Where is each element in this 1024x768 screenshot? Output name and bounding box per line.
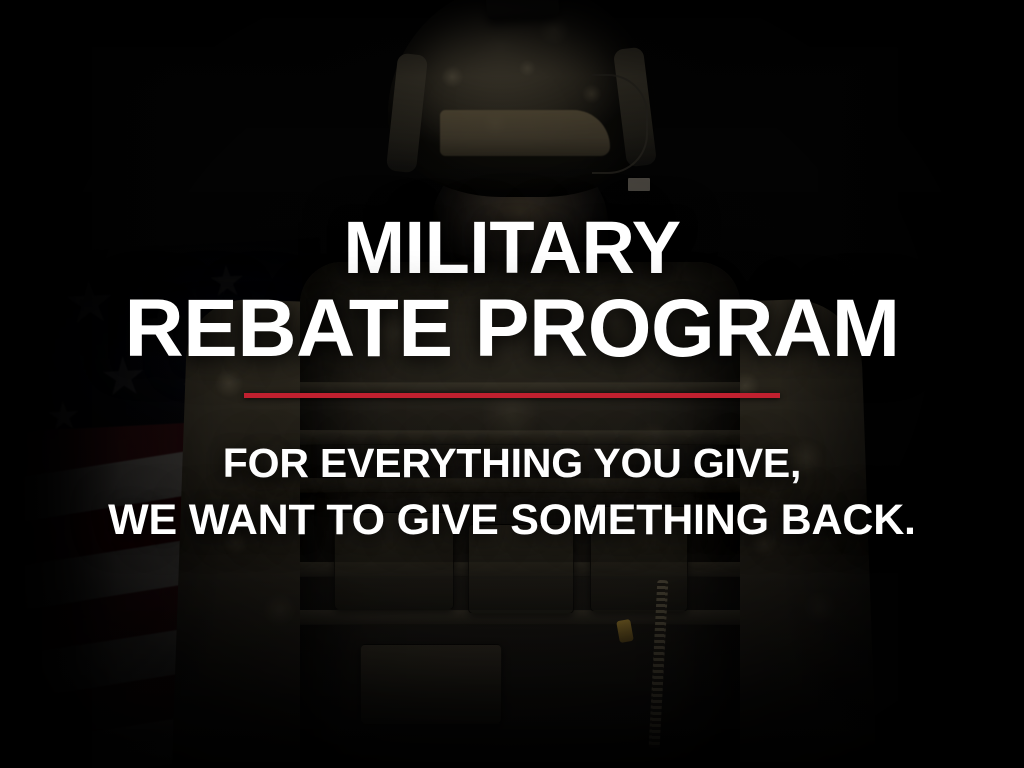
headline-line-2: REBATE PROGRAM [124,289,899,369]
military-rebate-program-banner: MILITARY REBATE PROGRAM FOR EVERYTHING Y… [0,0,1024,768]
subheadline-line-2: WE WANT TO GIVE SOMETHING BACK. [108,496,916,546]
headline-line-1: MILITARY [343,212,680,285]
red-divider-rule [244,393,780,398]
text-overlay: MILITARY REBATE PROGRAM FOR EVERYTHING Y… [0,0,1024,768]
subheadline-line-1: FOR EVERYTHING YOU GIVE, [223,440,801,488]
